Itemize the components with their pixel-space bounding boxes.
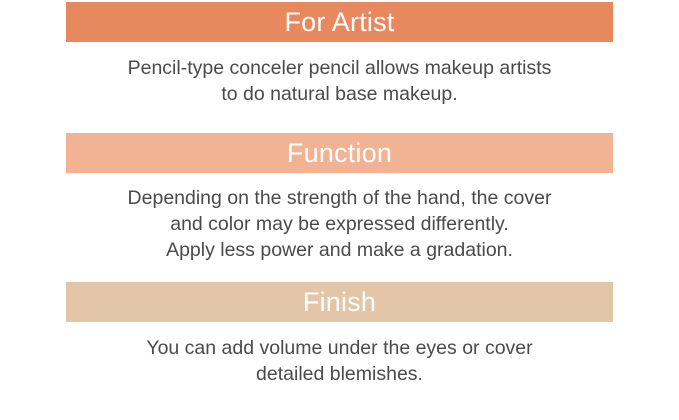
body-line: detailed blemishes. [20,361,659,387]
section-body-function: Depending on the strength of the hand, t… [0,185,679,263]
section-header-bar-finish: Finish [66,282,613,322]
body-line: to do natural base makeup. [20,81,659,107]
section-body-finish: You can add volume under the eyes or cov… [0,335,679,387]
section-body-for-artist: Pencil-type conceler pencil allows makeu… [0,55,679,107]
section-finish: Finish You can add volume under the eyes… [0,263,679,387]
section-header-bar-for-artist: For Artist [66,2,613,42]
section-title-function: Function [287,140,392,167]
body-line: Apply less power and make a gradation. [20,237,659,263]
product-info-panel: For Artist Pencil-type conceler pencil a… [0,0,679,420]
body-line: and color may be expressed differently. [20,211,659,237]
body-line: You can add volume under the eyes or cov… [20,335,659,361]
section-title-finish: Finish [303,289,376,316]
section-for-artist: For Artist Pencil-type conceler pencil a… [0,0,679,107]
body-line: Depending on the strength of the hand, t… [20,185,659,211]
section-title-for-artist: For Artist [284,9,394,36]
section-header-bar-function: Function [66,133,613,173]
section-function: Function Depending on the strength of th… [0,107,679,263]
body-line: Pencil-type conceler pencil allows makeu… [20,55,659,81]
